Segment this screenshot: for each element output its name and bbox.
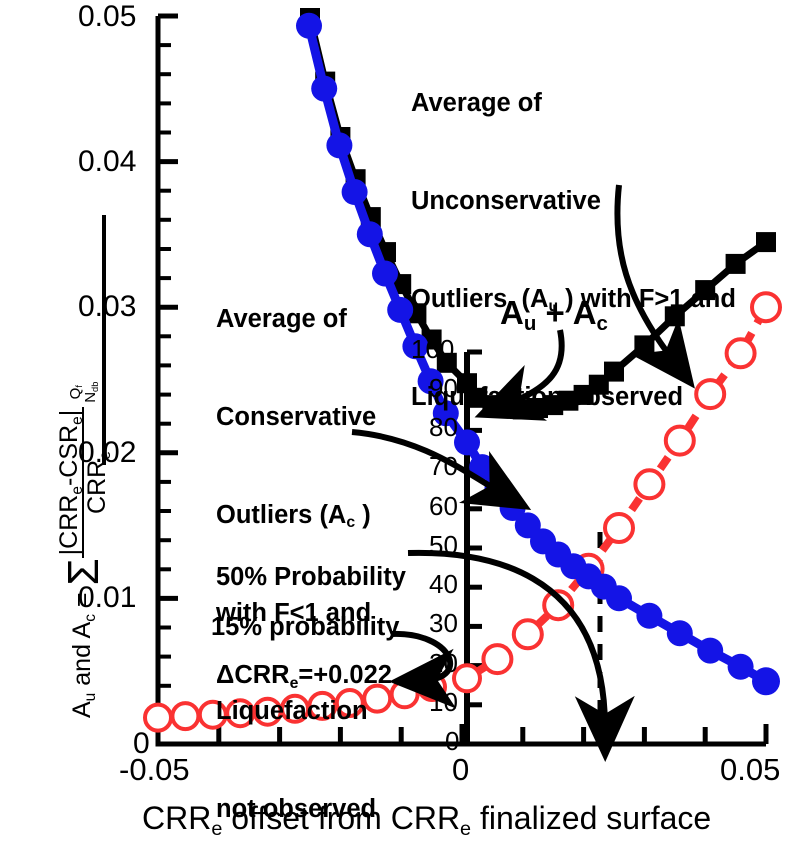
y-axis-title-au: Au and Ac =	[68, 586, 96, 718]
y-axis-title-sigma: Σ	[66, 558, 101, 585]
y-tick-label-0.03: 0.03	[78, 290, 136, 324]
inner-tick-label-30: 30	[429, 608, 458, 639]
annotation-conservative-line2: Conservative	[216, 401, 376, 434]
annotation-unconservative-line2: Unconservative	[411, 185, 736, 218]
y-axis-title-limit-top: Qf	[68, 382, 84, 403]
inner-tick-label-60: 60	[429, 491, 458, 522]
y-axis-title-numerator: |CRRe-CSRe|	[56, 407, 84, 559]
inner-tick-label-20: 20	[429, 648, 458, 679]
annotation-conservative-line1: Average of	[216, 303, 376, 336]
annotation-unconservative-line4: Liquefaction observed	[411, 381, 736, 414]
y-axis-title-limits: Qf Ndb	[68, 382, 100, 403]
chart-figure: 0 0.01 0.02 0.03 0.04 0.05 -0.05 0 0.05 …	[0, 0, 793, 853]
y-axis-major-ticks	[158, 16, 178, 744]
y-tick-label-0.04: 0.04	[78, 145, 136, 179]
y-axis-title-limit-bottom: Ndb	[83, 382, 99, 403]
annotation-unconservative: Average of Unconservative Outliers (Au )…	[411, 22, 736, 479]
x-axis-title: CRRe offset from CRRe finalized surface	[142, 800, 711, 837]
inner-tick-label-10: 10	[429, 687, 458, 718]
x-tick-label-0.05: 0.05	[720, 752, 780, 788]
annotation-sum-label: Au + Ac	[500, 292, 608, 334]
annotation-prob-50-line2: ΔCRRe=+0.022	[216, 659, 406, 692]
annotation-prob-15: 15% probability	[211, 611, 399, 644]
inner-tick-label-0: 0	[445, 726, 459, 757]
inner-tick-label-40: 40	[429, 569, 458, 600]
annotation-prob-50-line1: 50% Probability	[216, 561, 406, 594]
y-axis-title-vertical-rule	[102, 215, 106, 465]
annotation-unconservative-line1: Average of	[411, 87, 736, 120]
inner-tick-label-50: 50	[429, 530, 458, 561]
x-tick-label-neg0.05: -0.05	[119, 752, 190, 788]
y-tick-label-0.05: 0.05	[78, 0, 136, 34]
x-tick-label-0: 0	[452, 752, 469, 788]
y-axis-title-denominator: CRRe	[84, 407, 110, 559]
